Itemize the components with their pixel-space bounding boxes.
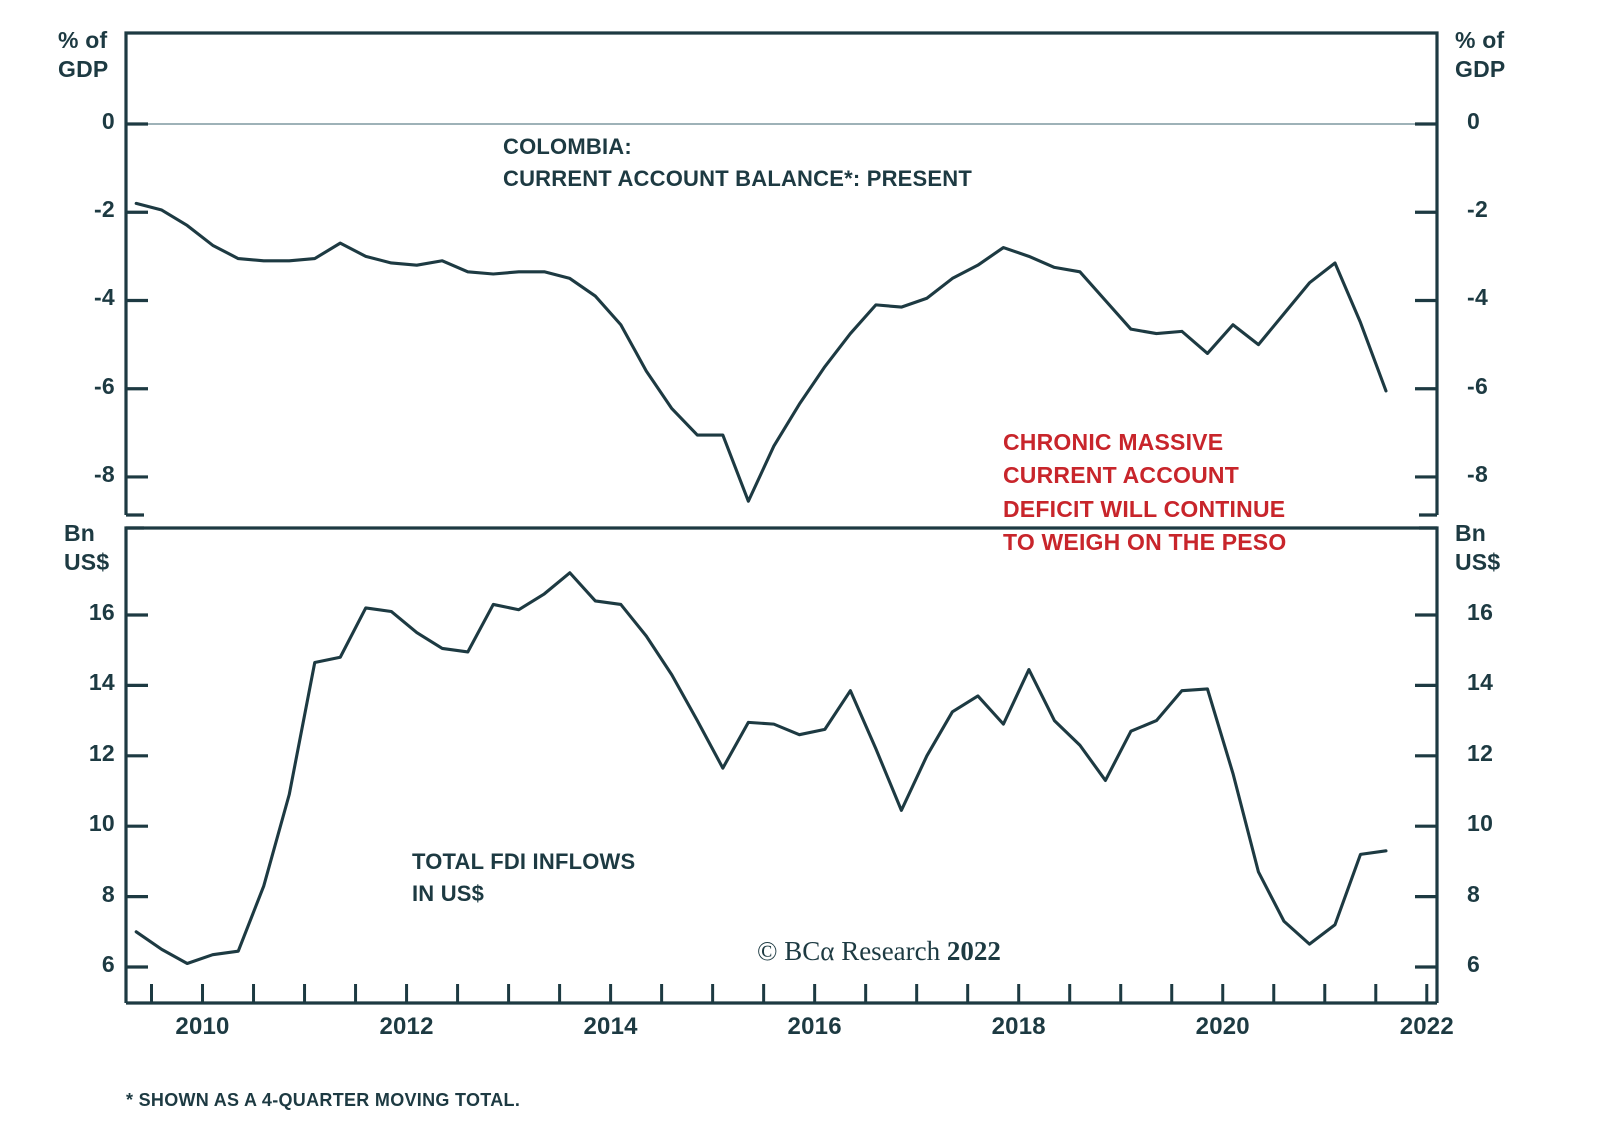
bottom-panel-ytick-label-left: 16 <box>21 599 115 626</box>
bottom-panel-ytick-label-left: 8 <box>21 881 115 908</box>
top-panel-ytick-label-right: -8 <box>1467 461 1561 488</box>
bottom-panel-ytick-label-left: 10 <box>21 810 115 837</box>
bottom-panel-ytick-label-left: 6 <box>21 951 115 978</box>
top-panel-ytick-label-left: -8 <box>21 461 115 488</box>
x-axis-year-label-2020: 2020 <box>1168 1013 1278 1041</box>
bottom-panel-ytick-label-right: 16 <box>1467 599 1561 626</box>
top-series-label: COLOMBIA: CURRENT ACCOUNT BALANCE*: PRES… <box>503 131 972 195</box>
chart-page: % of GDP % of GDP COLOMBIA: CURRENT ACCO… <box>0 0 1600 1142</box>
copyright-alpha: α <box>820 936 834 966</box>
copyright-mark: © BC <box>757 936 820 966</box>
top-panel-ytick-label-right: 0 <box>1467 108 1561 135</box>
bottom-panel-ytick-label-right: 12 <box>1467 740 1561 767</box>
top-panel-ytick-label-right: -6 <box>1467 373 1561 400</box>
footnote: * SHOWN AS A 4-QUARTER MOVING TOTAL. <box>126 1090 520 1111</box>
top-right-axis-unit: % of GDP <box>1455 26 1545 85</box>
bottom-panel-ytick-label-right: 6 <box>1467 951 1561 978</box>
x-axis-year-label-2010: 2010 <box>148 1013 258 1041</box>
top-left-axis-unit: % of GDP <box>58 26 128 85</box>
x-axis-year-label-2022: 2022 <box>1372 1013 1482 1041</box>
top-panel-ytick-label-left: -6 <box>21 373 115 400</box>
bottom-panel-ytick-label-right: 10 <box>1467 810 1561 837</box>
copyright-word: Research <box>834 936 946 966</box>
bottom-left-axis-unit: Bn US$ <box>64 519 134 578</box>
bottom-panel-ytick-label-right: 8 <box>1467 881 1561 908</box>
bottom-panel-ytick-label-right: 14 <box>1467 669 1561 696</box>
top-panel-ytick-label-right: -4 <box>1467 284 1561 311</box>
top-panel-ytick-label-right: -2 <box>1467 196 1561 223</box>
copyright-notice: © BCα Research 2022 <box>757 936 1001 967</box>
bottom-series-label: TOTAL FDI INFLOWS IN US$ <box>412 846 635 910</box>
copyright-year: 2022 <box>947 936 1001 966</box>
x-axis-year-label-2018: 2018 <box>964 1013 1074 1041</box>
bottom-panel-ytick-label-left: 12 <box>21 740 115 767</box>
bottom-panel-frame <box>126 528 1437 1003</box>
top-panel-ytick-label-left: -2 <box>21 196 115 223</box>
x-axis-year-label-2012: 2012 <box>352 1013 462 1041</box>
top-panel-ytick-label-left: -4 <box>21 284 115 311</box>
x-axis-year-label-2014: 2014 <box>556 1013 666 1041</box>
callout-annotation: CHRONIC MASSIVE CURRENT ACCOUNT DEFICIT … <box>1003 426 1286 559</box>
bottom-panel-ytick-label-left: 14 <box>21 669 115 696</box>
top-panel-ytick-label-left: 0 <box>21 108 115 135</box>
x-axis-year-label-2016: 2016 <box>760 1013 870 1041</box>
fdi-inflows-line <box>136 573 1386 964</box>
bottom-right-axis-unit: Bn US$ <box>1455 519 1545 578</box>
